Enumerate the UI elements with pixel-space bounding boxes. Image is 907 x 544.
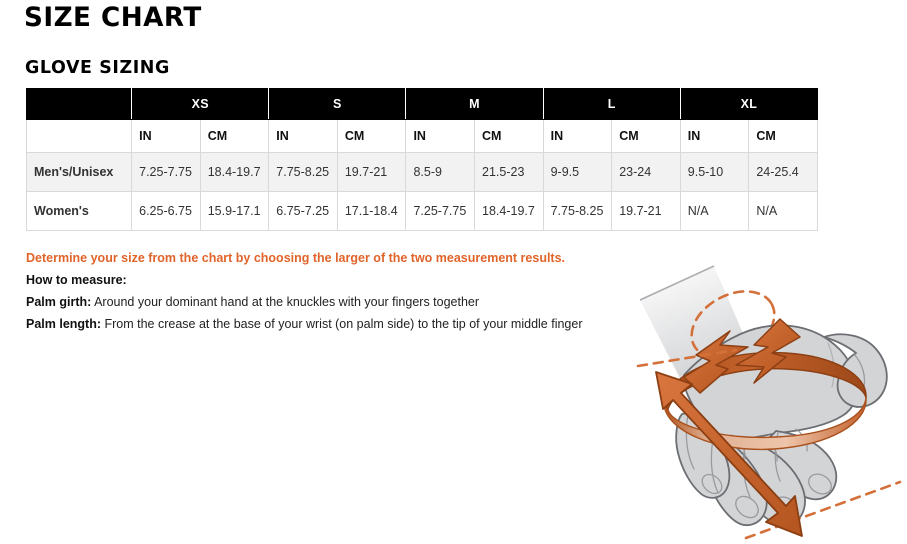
unit-header-l-in: IN (543, 120, 612, 153)
cell-womens-xl-in: N/A (680, 192, 749, 231)
table-corner-cell (27, 89, 132, 120)
note-palm-girth: Palm girth: Around your dominant hand at… (26, 291, 626, 313)
cell-mens-l-cm: 23-24 (612, 153, 681, 192)
page-title: SIZE CHART (24, 2, 202, 33)
note-palm-length-text: From the crease at the base of your wris… (101, 317, 582, 331)
cell-mens-s-in: 7.75-8.25 (269, 153, 338, 192)
note-palm-length-label: Palm length: (26, 317, 101, 331)
unit-header-xl-in: IN (680, 120, 749, 153)
unit-header-l-cm: CM (612, 120, 681, 153)
glove-sizing-table: XS S M L XL IN CM IN CM IN CM IN CM IN C… (26, 88, 818, 231)
note-how-to-measure: How to measure: (26, 269, 626, 291)
table-row: Men's/Unisex 7.25-7.75 18.4-19.7 7.75-8.… (27, 153, 818, 192)
note-palm-girth-text: Around your dominant hand at the knuckle… (91, 295, 479, 309)
size-group-s: S (269, 89, 406, 120)
cell-womens-xs-in: 6.25-6.75 (132, 192, 201, 231)
row-label-womens: Women's (27, 192, 132, 231)
unit-header-xs-cm: CM (200, 120, 269, 153)
cell-womens-m-cm: 18.4-19.7 (475, 192, 544, 231)
unit-header-s-in: IN (269, 120, 338, 153)
unit-header-m-in: IN (406, 120, 475, 153)
note-palm-length: Palm length: From the crease at the base… (26, 313, 626, 335)
cell-mens-xs-cm: 18.4-19.7 (200, 153, 269, 192)
table-unit-header-row: IN CM IN CM IN CM IN CM IN CM (27, 120, 818, 153)
unit-header-blank (27, 120, 132, 153)
size-group-m: M (406, 89, 543, 120)
unit-header-xs-in: IN (132, 120, 201, 153)
size-group-xs: XS (132, 89, 269, 120)
table-row: Women's 6.25-6.75 15.9-17.1 6.75-7.25 17… (27, 192, 818, 231)
unit-header-xl-cm: CM (749, 120, 818, 153)
cell-mens-l-in: 9-9.5 (543, 153, 612, 192)
cell-womens-l-in: 7.75-8.25 (543, 192, 612, 231)
unit-header-s-cm: CM (337, 120, 406, 153)
cell-womens-m-in: 7.25-7.75 (406, 192, 475, 231)
cell-womens-xs-cm: 15.9-17.1 (200, 192, 269, 231)
table-size-group-header-row: XS S M L XL (27, 89, 818, 120)
note-how-to-measure-label: How to measure: (26, 273, 127, 287)
unit-header-m-cm: CM (475, 120, 544, 153)
cell-womens-s-in: 6.75-7.25 (269, 192, 338, 231)
cell-womens-l-cm: 19.7-21 (612, 192, 681, 231)
size-group-xl: XL (680, 89, 817, 120)
cell-mens-xl-cm: 24-25.4 (749, 153, 818, 192)
cell-mens-xs-in: 7.25-7.75 (132, 153, 201, 192)
cell-mens-xl-in: 9.5-10 (680, 153, 749, 192)
cell-mens-s-cm: 19.7-21 (337, 153, 406, 192)
measurement-notes: Determine your size from the chart by ch… (26, 247, 626, 335)
note-palm-girth-label: Palm girth: (26, 295, 91, 309)
size-group-l: L (543, 89, 680, 120)
row-label-mens-unisex: Men's/Unisex (27, 153, 132, 192)
section-title: GLOVE SIZING (25, 57, 170, 78)
cell-mens-m-cm: 21.5-23 (475, 153, 544, 192)
hand-measurement-illustration (628, 253, 907, 544)
cell-womens-xl-cm: N/A (749, 192, 818, 231)
cell-womens-s-cm: 17.1-18.4 (337, 192, 406, 231)
note-highlight: Determine your size from the chart by ch… (26, 247, 626, 269)
cell-mens-m-in: 8.5-9 (406, 153, 475, 192)
